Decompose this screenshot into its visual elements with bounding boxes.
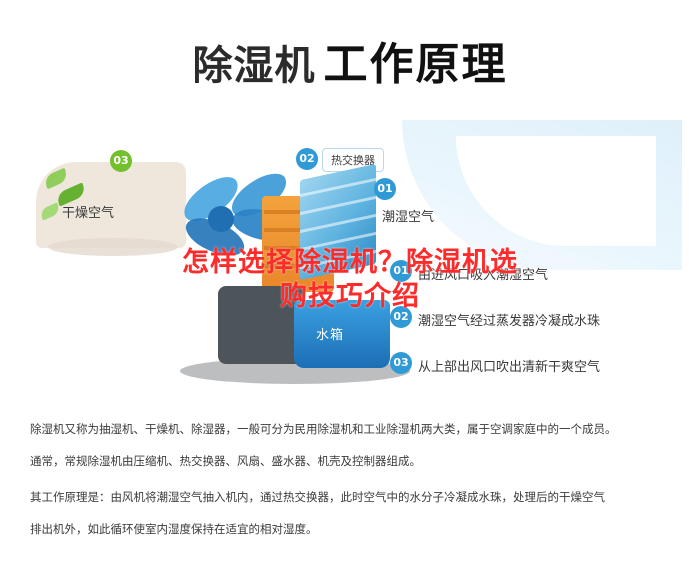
watermark-line-1: 怎样选择除湿机？除湿机选 (0, 246, 700, 280)
exchanger-fin (300, 196, 376, 215)
body-paragraph-2: 通常，常规除湿机由压缩机、热交换器、风扇、盛水器、机壳及控制器组成。 (30, 450, 670, 472)
fan-hub (208, 206, 234, 232)
exchanger-fin (300, 214, 376, 233)
badge-02: 02 (296, 148, 318, 170)
page-root: 除湿机工作原理 03 干燥空气 02 热交换器 (0, 0, 700, 566)
badge-03-left: 03 (110, 150, 132, 172)
step-text-03: 从上部出风口吹出清新干爽空气 (418, 356, 600, 375)
watermark-line-2: 购技巧介绍 (0, 280, 700, 314)
label-dry-air: 干燥空气 (62, 202, 114, 221)
label-tank: 水箱 (316, 324, 344, 343)
page-title-part1: 除湿机 (193, 43, 316, 89)
page-title: 除湿机工作原理 (0, 28, 700, 92)
body-paragraph-3: 其工作原理是：由风机将潮湿空气抽入机内，通过热交换器，此时空气中的水分子冷凝成水… (30, 486, 670, 508)
badge-01: 01 (374, 178, 396, 200)
badge-step-03: 03 (390, 352, 412, 374)
watermark-overlay: 怎样选择除湿机？除湿机选 购技巧介绍 (0, 246, 700, 314)
exchanger-fin (300, 178, 376, 197)
body-paragraph-1: 除湿机又称为抽湿机、干燥机、除湿器，一般可分为民用除湿机和工业除湿机两大类，属于… (30, 418, 670, 440)
body-paragraph-4: 排出机外，如此循环使室内湿度保持在适宜的相对湿度。 (30, 518, 670, 540)
label-humid-air: 潮湿空气 (382, 206, 434, 225)
page-title-part2: 工作原理 (324, 39, 508, 90)
body-copy: 除湿机又称为抽湿机、干燥机、除湿器，一般可分为民用除湿机和工业除湿机两大类，属于… (30, 418, 670, 540)
